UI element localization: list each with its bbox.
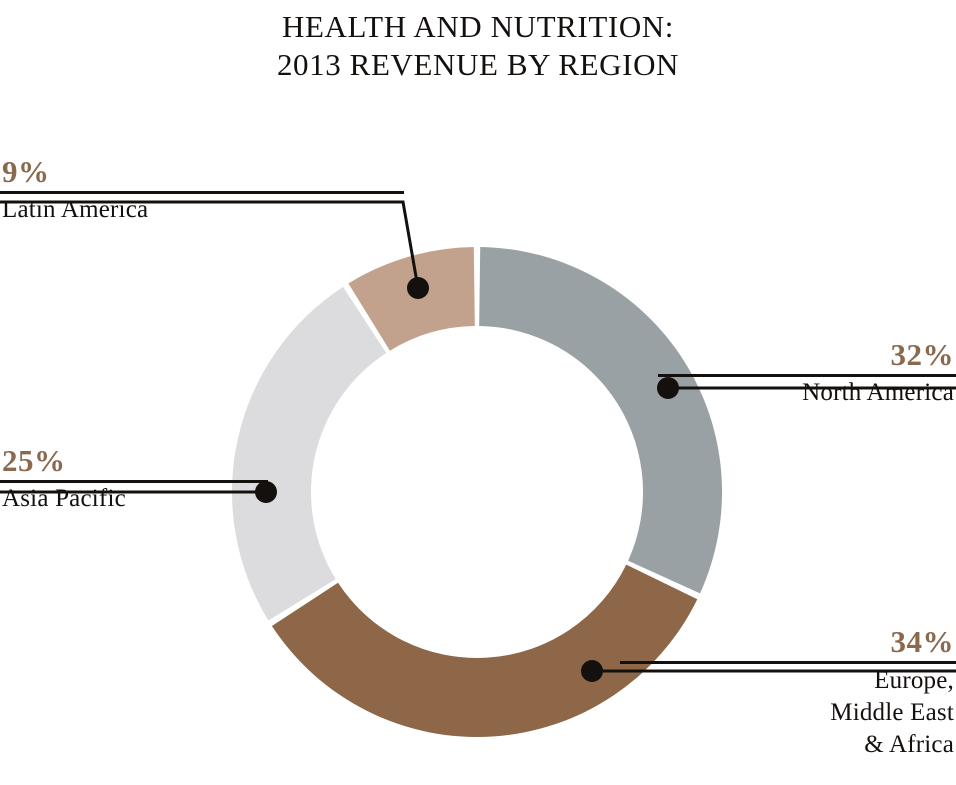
callout-north-america: 32% North America [658, 338, 956, 407]
callout-rule-asia-pacific [0, 480, 268, 483]
title-line-2: 2013 REVENUE BY REGION [0, 46, 956, 84]
callout-latin-america: 9% Latin America [0, 155, 404, 224]
callout-rule-latin-america [0, 191, 404, 194]
callout-emea: 34% Europe, Middle East & Africa [620, 625, 956, 761]
callout-label-north-america: North America [658, 378, 956, 407]
callout-rule-north-america [658, 374, 956, 377]
callout-label-asia-pacific: Asia Pacific [0, 484, 268, 513]
chart-page: HEALTH AND NUTRITION: 2013 REVENUE BY RE… [0, 0, 956, 785]
page-title: HEALTH AND NUTRITION: 2013 REVENUE BY RE… [0, 8, 956, 84]
callout-label-emea-line-2: Middle East [620, 697, 956, 729]
title-line-1: HEALTH AND NUTRITION: [0, 8, 956, 46]
callout-rule-emea [620, 661, 956, 664]
callout-percent-asia-pacific: 25% [0, 444, 268, 478]
callout-asia-pacific: 25% Asia Pacific [0, 444, 268, 513]
callout-percent-latin-america: 9% [0, 155, 404, 189]
callout-label-emea-line-1: Europe, [620, 665, 956, 697]
donut-segment-north-america[interactable] [479, 247, 722, 593]
callout-label-emea-line-3: & Africa [620, 729, 956, 761]
callout-percent-north-america: 32% [658, 338, 956, 372]
callout-percent-emea: 34% [620, 625, 956, 659]
callout-label-latin-america: Latin America [0, 195, 404, 224]
